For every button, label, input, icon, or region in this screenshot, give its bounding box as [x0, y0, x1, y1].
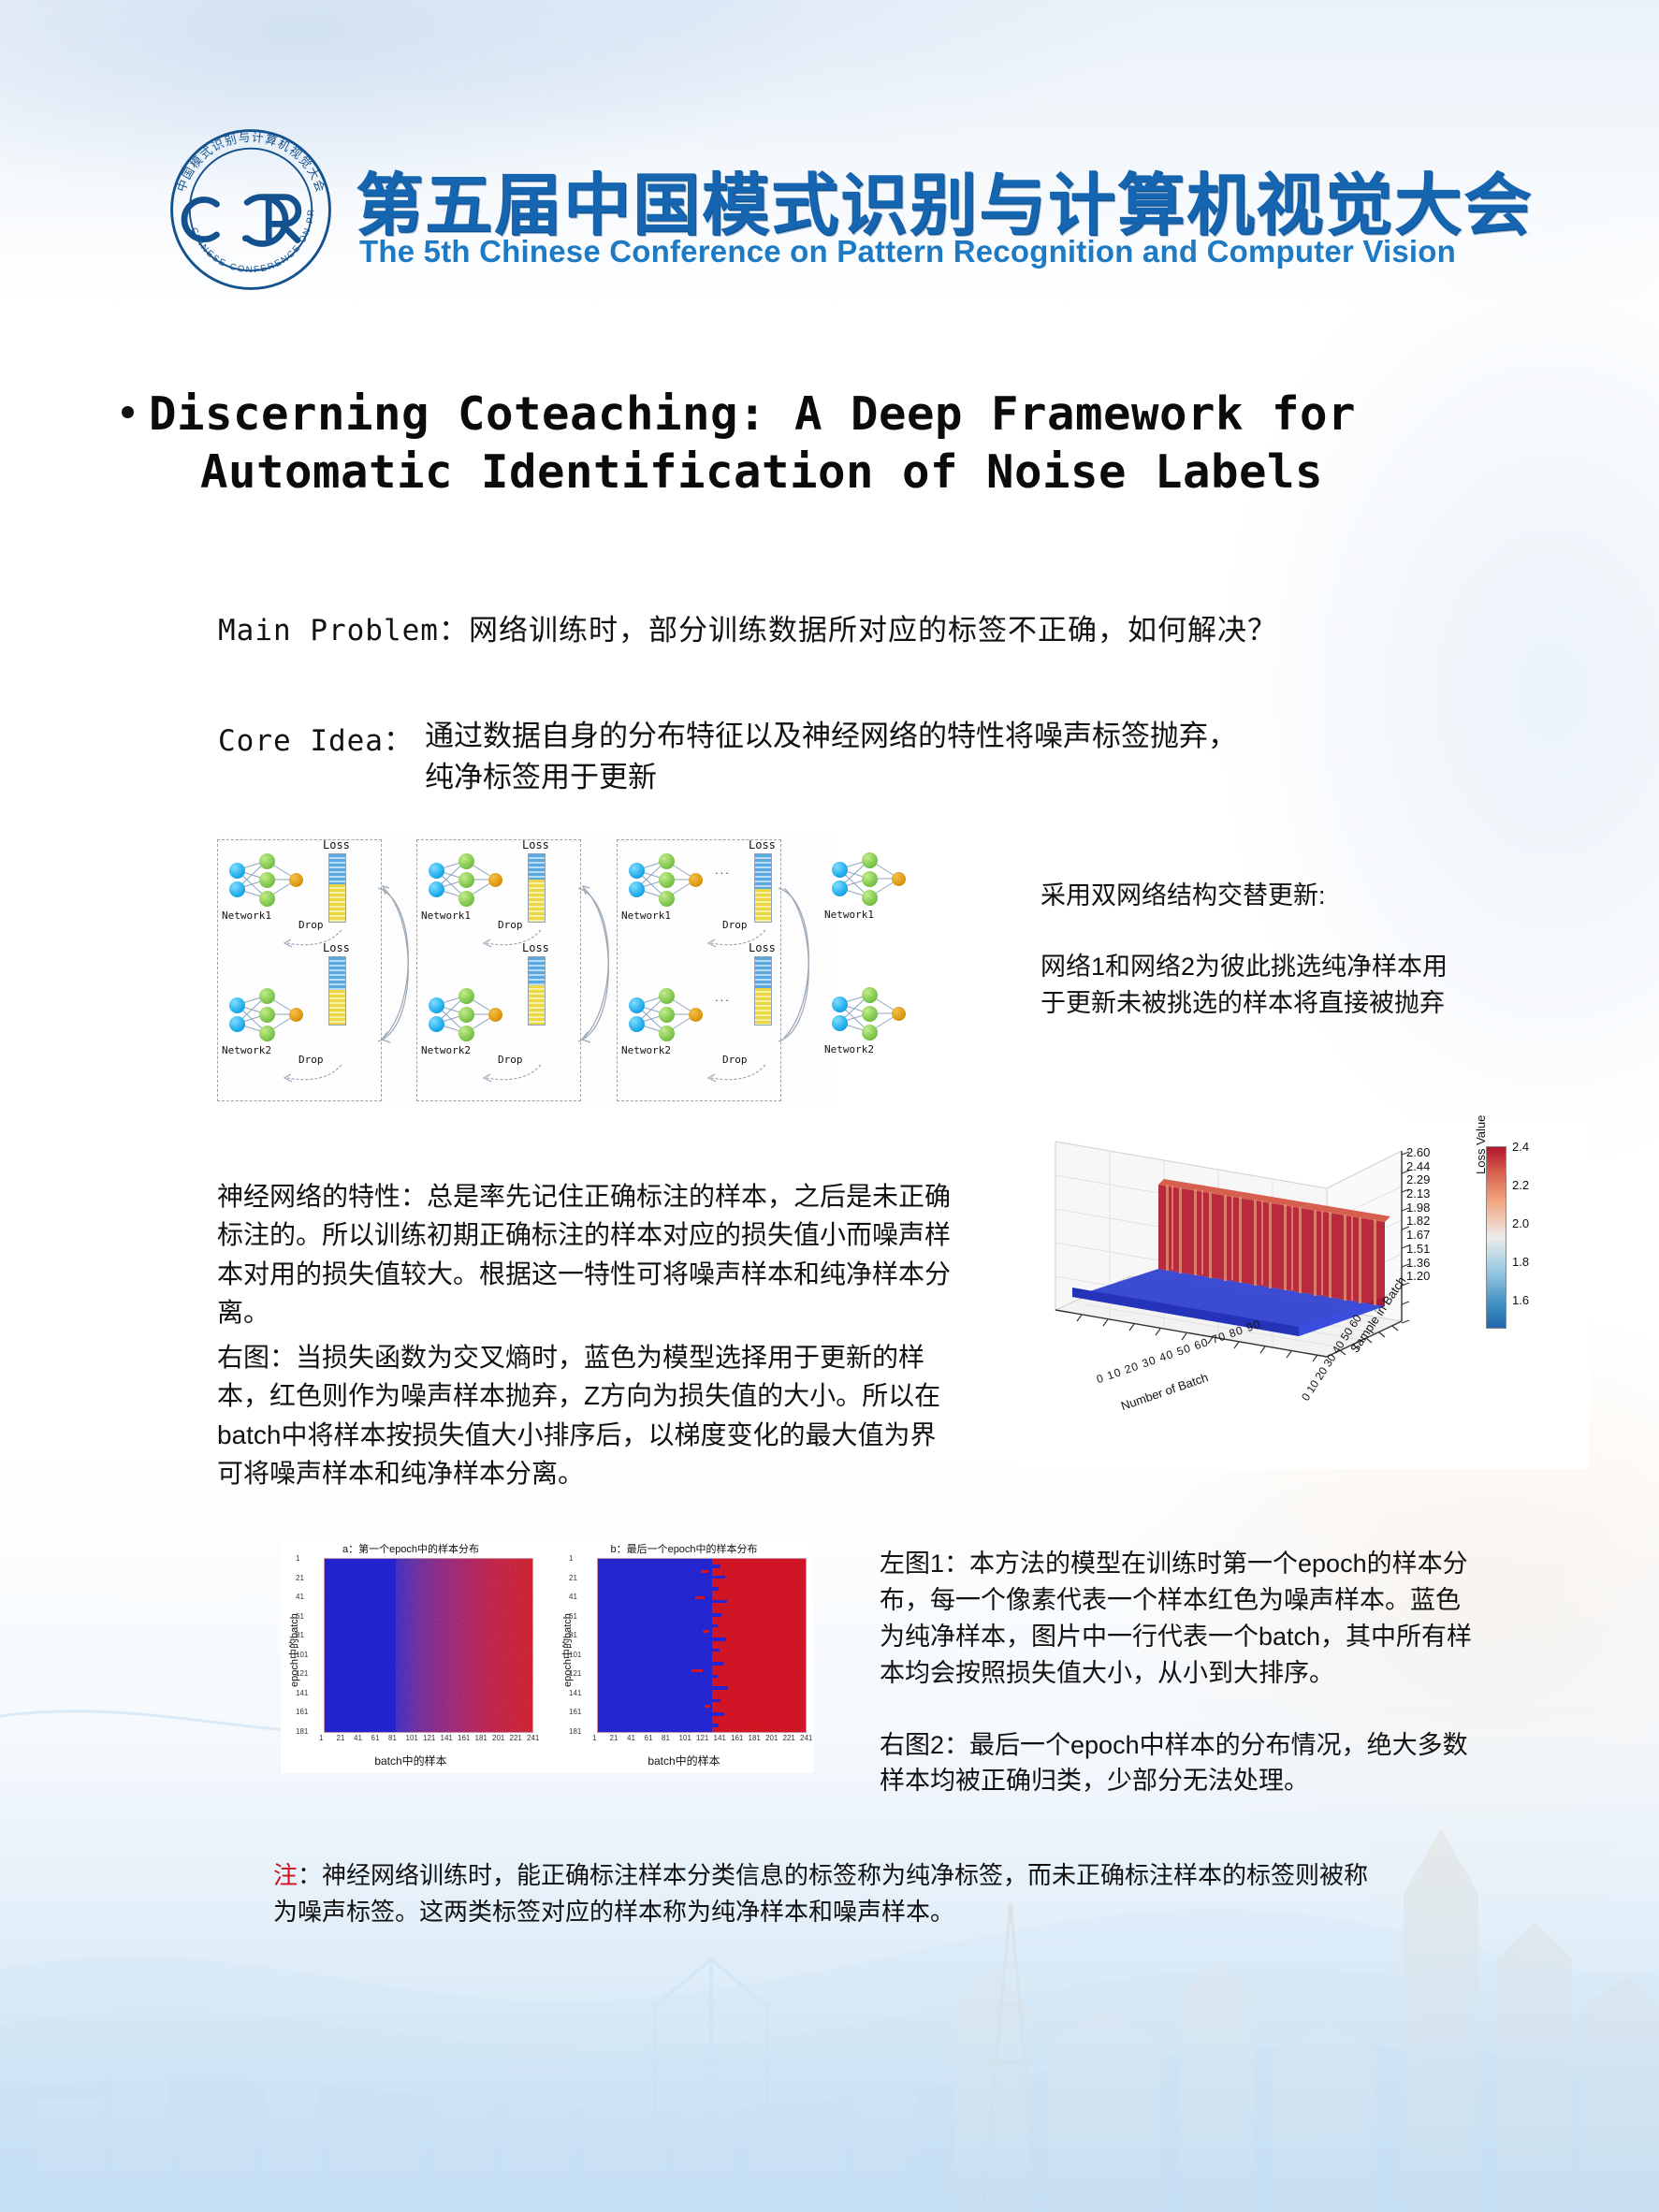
distribution-x-tick: 221: [783, 1734, 795, 1742]
loss-bar-noise-segment: [529, 985, 545, 1025]
distribution-y-tick: 161: [296, 1708, 308, 1716]
network1-graph: [826, 847, 916, 916]
sample-distribution-figure: a：第一个epoch中的样本分布 epoch中的batch: [281, 1539, 814, 1773]
network2-graph: [224, 982, 313, 1052]
distribution-heatmap-b: [597, 1558, 807, 1733]
hidden-node: [862, 871, 878, 887]
distribution-x-tick: 61: [371, 1734, 380, 1742]
network1-label: Network1: [824, 909, 874, 921]
page-title: Discerning Coteaching: A Deep Framework …: [122, 386, 1553, 501]
network2-graph: [423, 982, 513, 1052]
loss-label: Loss: [522, 941, 549, 954]
slide-content: Discerning Coteaching: A Deep Framework …: [0, 0, 1659, 2212]
hidden-node: [862, 1006, 878, 1022]
loss-bar: [328, 956, 346, 1026]
network1-label: Network1: [421, 910, 471, 922]
loss-bar-clean-segment: [329, 957, 345, 990]
loss-bar: [528, 853, 546, 923]
main-problem-text: Main Problem：网络训练时，部分训练数据所对应的标签不正确，如何解决？: [218, 606, 1277, 648]
hidden-node: [862, 852, 878, 868]
loss-label: Loss: [323, 838, 350, 851]
hidden-node: [458, 872, 474, 888]
distribution-y-tick: 1: [569, 1554, 573, 1563]
distribution-y-tick: 61: [569, 1612, 577, 1621]
surface-z-axis-ticks: 2.602.442.292.131.981.821.671.511.361.20: [1406, 1146, 1472, 1284]
loss-label: Loss: [522, 838, 549, 851]
distribution-x-tick: 61: [645, 1734, 653, 1742]
hidden-node: [659, 988, 675, 1004]
output-node: [289, 873, 303, 887]
distribution-x-tick: 81: [662, 1734, 670, 1742]
hidden-node: [458, 1007, 474, 1023]
output-node: [488, 873, 502, 887]
distribution-y-tick: 21: [569, 1574, 577, 1582]
hidden-node: [659, 872, 675, 888]
distribution-x-tick: 161: [458, 1734, 470, 1742]
network2-unit: Network2 ... Loss Drop: [618, 977, 782, 1063]
footnote: 注：神经网络训练时，能正确标注样本分类信息的标签称为纯净标签，而未正确标注样本的…: [273, 1857, 1377, 1930]
distribution-y-tick: 81: [296, 1631, 304, 1639]
network-figure-caption: 采用双网络结构交替更新: 网络1和网络2为彼此挑选纯净样本用 于更新未被挑选的样…: [1041, 875, 1527, 1022]
network1-unit-final: Network1: [821, 841, 985, 927]
input-node: [429, 863, 444, 879]
hidden-node: [862, 1025, 878, 1041]
network-stage-1: Network1 Loss Drop: [217, 839, 382, 1101]
loss-label: Loss: [323, 941, 350, 954]
distribution-x-tick: 1: [319, 1734, 323, 1742]
network1-graph: [623, 848, 713, 917]
input-node: [229, 1016, 245, 1032]
core-idea-line-1: 通过数据自身的分布特征以及神经网络的特性将噪声标签抛弃，: [425, 716, 1237, 757]
loss-bar-noise-segment: [329, 990, 345, 1025]
loss-bar-noise-segment: [755, 988, 771, 1025]
network2-label: Network2: [421, 1044, 471, 1056]
output-node: [892, 1007, 906, 1021]
distribution-heatmap-a: [324, 1558, 533, 1733]
loss-bar-clean-segment: [529, 957, 545, 985]
distribution-x-tick: 21: [610, 1734, 618, 1742]
distribution-x-tick: 81: [388, 1734, 397, 1742]
network1-label: Network1: [222, 910, 271, 922]
hidden-node: [259, 1026, 275, 1041]
network-stage-2: Network1 Loss Drop: [416, 839, 581, 1101]
distribution-panel-last-epoch: b：最后一个epoch中的样本分布 epoch中的batch: [554, 1539, 814, 1773]
hidden-node: [659, 1026, 675, 1041]
colorbar-tick-labels: 2.42.22.01.81.6: [1512, 1140, 1529, 1332]
input-node: [429, 1016, 444, 1032]
distribution-panel-first-epoch: a：第一个epoch中的样本分布 epoch中的batch: [281, 1539, 541, 1773]
loss-bar-noise-segment: [329, 884, 345, 922]
distribution-x-tick: 1: [592, 1734, 596, 1742]
distribution-y-tick: 121: [296, 1669, 308, 1678]
input-node: [832, 997, 848, 1012]
distribution-x-tick: 101: [679, 1734, 691, 1742]
hidden-node: [458, 1026, 474, 1041]
network2-graph: [623, 982, 713, 1052]
drop-arrow: [479, 1063, 545, 1084]
loss-surface-3d-figure: 2.602.442.292.131.981.821.671.511.361.20…: [1018, 1123, 1589, 1469]
distribution-xlabel-b: batch中的样本: [554, 1753, 814, 1768]
network2-label: Network2: [222, 1044, 271, 1056]
network-caption-line-2: 于更新未被挑选的样本将直接被抛弃: [1041, 985, 1527, 1022]
network1-label: Network1: [621, 910, 671, 922]
distribution-x-tick: 141: [714, 1734, 726, 1742]
network1-unit: Network1 Loss Drop: [417, 842, 582, 928]
core-idea-label: Core Idea：: [218, 716, 414, 759]
input-node: [229, 881, 245, 897]
page-title-line-1: Discerning Coteaching: A Deep Framework …: [122, 386, 1553, 444]
core-idea-line-2: 纯净标签用于更新: [425, 757, 1237, 798]
distribution-x-tick: 41: [354, 1734, 362, 1742]
loss-bar-noise-segment: [529, 880, 545, 922]
output-node: [289, 1008, 303, 1022]
output-node: [689, 1008, 703, 1022]
distribution-xlabel-a: batch中的样本: [281, 1753, 541, 1768]
input-node: [832, 862, 848, 878]
footnote-text: ：神经网络训练时，能正确标注样本分类信息的标签称为纯净标签，而未正确标注样本的标…: [273, 1861, 1368, 1926]
drop-arrow: [280, 1063, 345, 1084]
loss-bar-clean-segment: [755, 854, 771, 889]
output-node: [488, 1008, 502, 1022]
hidden-node: [259, 1007, 275, 1023]
loss-label: Loss: [749, 941, 776, 954]
distribution-title-b: b：最后一个epoch中的样本分布: [554, 1541, 814, 1556]
network2-label: Network2: [621, 1044, 671, 1056]
loss-colorbar: [1486, 1146, 1506, 1329]
distribution-x-tick: 241: [800, 1734, 812, 1742]
hidden-node: [659, 853, 675, 869]
hidden-node: [862, 890, 878, 906]
distribution-x-tick: 121: [696, 1734, 708, 1742]
input-node: [629, 997, 645, 1013]
distribution-y-tick: 81: [569, 1631, 577, 1639]
network2-graph: [826, 982, 916, 1051]
network2-unit-final: Network2: [821, 976, 985, 1062]
distribution-caption-right: 右图2：最后一个epoch中样本的分布情况，绝大多数样本均被正确归类，少部分无法…: [880, 1727, 1478, 1800]
distribution-y-tick: 121: [569, 1669, 581, 1678]
coteaching-network-figure: Network1 Loss Drop: [217, 836, 837, 1105]
loss-bar-clean-segment: [329, 854, 345, 884]
loss-label: Loss: [749, 838, 776, 851]
distribution-y-tick: 1: [296, 1554, 299, 1563]
network1-graph: [224, 848, 313, 917]
distribution-x-tick: 101: [406, 1734, 418, 1742]
network-caption-title: 采用双网络结构交替更新:: [1041, 875, 1527, 911]
input-node: [832, 880, 848, 896]
distribution-x-tick: 201: [492, 1734, 504, 1742]
loss-bar-clean-segment: [529, 854, 545, 880]
distribution-x-tick: 161: [731, 1734, 743, 1742]
distribution-caption-left: 左图1：本方法的模型在训练时第一个epoch的样本分布，每一个像素代表一个样本红…: [880, 1546, 1478, 1692]
distribution-y-tick: 141: [296, 1689, 308, 1697]
hidden-node: [259, 988, 275, 1004]
network1-graph: [423, 848, 513, 917]
input-node: [429, 881, 444, 897]
network2-unit: Network2 Loss Drop: [417, 977, 582, 1063]
distribution-x-tick: 141: [441, 1734, 453, 1742]
distribution-y-tick: 61: [296, 1612, 304, 1621]
hidden-node: [259, 872, 275, 888]
page-title-text-1: Discerning Coteaching: A Deep Framework …: [149, 387, 1356, 441]
hidden-node: [458, 891, 474, 907]
distribution-y-tick: 41: [569, 1593, 577, 1601]
ellipsis-marker: ...: [715, 990, 731, 1004]
input-node: [429, 997, 444, 1013]
loss-bar: [528, 956, 546, 1026]
input-node: [832, 1015, 848, 1031]
ellipsis-marker: ...: [715, 863, 731, 877]
paragraph-network-property: 神经网络的特性：总是率先记住正确标注的样本，之后是未正确标注的。所以训练初期正确…: [217, 1177, 956, 1332]
distribution-y-tick: 41: [296, 1593, 304, 1601]
drop-arrow: [704, 1063, 769, 1084]
distribution-x-tick: 21: [337, 1734, 345, 1742]
core-idea-block: Core Idea： 通过数据自身的分布特征以及神经网络的特性将噪声标签抛弃， …: [218, 716, 1237, 798]
distribution-y-tick: 21: [296, 1574, 304, 1582]
network2-unit: Network2 Loss Drop: [218, 977, 383, 1063]
distribution-y-tick: 101: [296, 1651, 308, 1659]
distribution-y-tick: 101: [569, 1651, 581, 1659]
input-node: [629, 863, 645, 879]
footnote-marker: 注: [273, 1861, 298, 1889]
distribution-y-tick: 181: [296, 1727, 308, 1736]
distribution-y-tick: 161: [569, 1708, 581, 1716]
hidden-node: [259, 891, 275, 907]
hidden-node: [458, 853, 474, 869]
page-title-line-2: Automatic Identification of Noise Labels: [122, 444, 1553, 502]
hidden-node: [259, 853, 275, 869]
network1-unit: Network1 Loss Drop: [218, 842, 383, 928]
network2-label: Network2: [824, 1043, 874, 1055]
paragraph-right-figure: 右图：当损失函数为交叉熵时，蓝色为模型选择用于更新的样本，红色则作为噪声样本抛弃…: [217, 1338, 956, 1493]
loss-bar: [328, 853, 346, 923]
loss-bar: [754, 853, 772, 923]
input-node: [229, 863, 245, 879]
output-node: [689, 873, 703, 887]
loss-bar: [754, 956, 772, 1026]
distribution-x-tick: 241: [527, 1734, 539, 1742]
input-node: [229, 997, 245, 1013]
hidden-node: [862, 987, 878, 1003]
output-node: [892, 872, 906, 886]
bullet-icon: [122, 406, 134, 418]
distribution-x-tick: 221: [510, 1734, 522, 1742]
network-stage-3: Network1 ... Loss Drop: [617, 839, 781, 1101]
hidden-node: [659, 1007, 675, 1023]
distribution-x-tick: 181: [749, 1734, 761, 1742]
distribution-x-tick: 41: [627, 1734, 635, 1742]
distribution-title-a: a：第一个epoch中的样本分布: [281, 1541, 541, 1556]
distribution-figure-caption: 左图1：本方法的模型在训练时第一个epoch的样本分布，每一个像素代表一个样本红…: [880, 1546, 1478, 1799]
loss-bar-noise-segment: [755, 889, 771, 922]
distribution-x-tick: 201: [765, 1734, 778, 1742]
loss-bar-clean-segment: [755, 957, 771, 988]
distribution-x-tick: 121: [423, 1734, 435, 1742]
network1-unit: Network1 ... Loss Drop: [618, 842, 782, 928]
hidden-node: [458, 988, 474, 1004]
distribution-x-tick: 181: [475, 1734, 488, 1742]
hidden-node: [659, 891, 675, 907]
network-caption-line-1: 网络1和网络2为彼此挑选纯净样本用: [1041, 949, 1527, 985]
input-node: [629, 1016, 645, 1032]
distribution-y-tick: 181: [569, 1727, 581, 1736]
distribution-y-tick: 141: [569, 1689, 581, 1697]
input-node: [629, 881, 645, 897]
